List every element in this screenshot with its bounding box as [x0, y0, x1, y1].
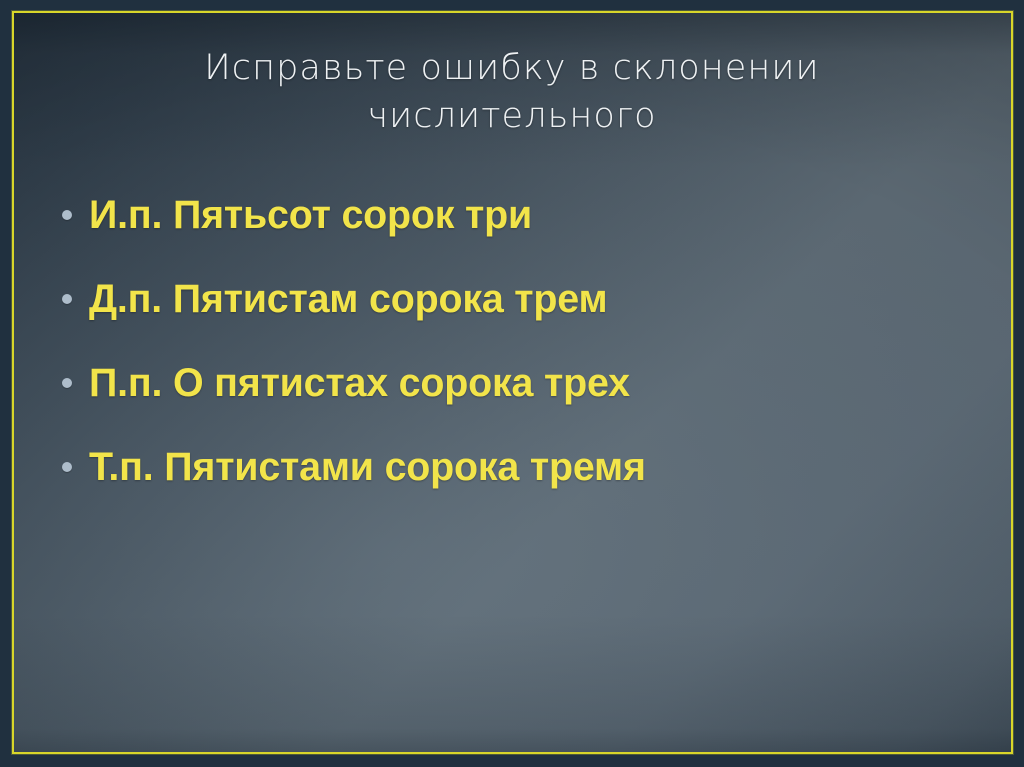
- list-item: П.п. О пятистах сорока трех: [56, 354, 976, 438]
- list-item-label: И.п. Пятьсот сорок три: [89, 186, 532, 244]
- slide-body-placeholder: И.п. Пятьсот сорок три Д.п. Пятистам сор…: [56, 186, 976, 522]
- round-bullet-icon: [62, 294, 72, 304]
- page-title: Исправьте ошибку в склонении числительно…: [110, 44, 914, 140]
- list-item-label: Д.п. Пятистам сорока трем: [89, 270, 607, 328]
- list-item: Т.п. Пятистами сорока тремя: [56, 438, 976, 522]
- list-item-label: Т.п. Пятистами сорока тремя: [89, 438, 646, 496]
- list-item: И.п. Пятьсот сорок три: [56, 186, 976, 270]
- round-bullet-icon: [62, 378, 72, 388]
- round-bullet-icon: [62, 462, 72, 472]
- round-bullet-icon: [62, 210, 72, 220]
- list-item: Д.п. Пятистам сорока трем: [56, 270, 976, 354]
- list-item-label: П.п. О пятистах сорока трех: [89, 354, 630, 412]
- presentation-slide: Исправьте ошибку в склонении числительно…: [0, 0, 1024, 767]
- slide-title-placeholder: Исправьте ошибку в склонении числительно…: [110, 44, 914, 140]
